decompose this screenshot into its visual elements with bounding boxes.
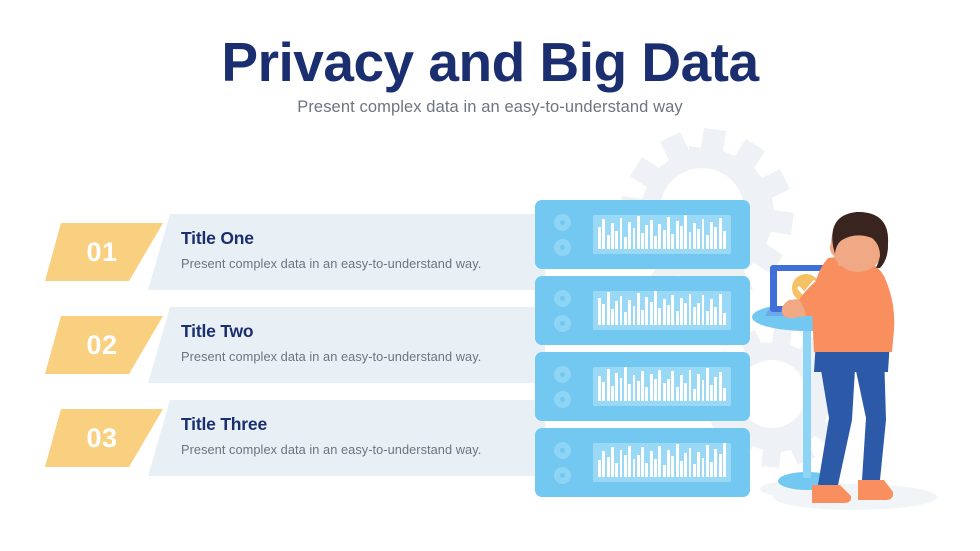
list-item-number: 02	[86, 330, 117, 361]
list-item-text: Title One Present complex data in an eas…	[181, 228, 521, 271]
server-led-icon	[554, 315, 571, 332]
activity-bar	[676, 387, 679, 401]
activity-bar	[598, 376, 601, 401]
activity-bar	[598, 298, 601, 325]
activity-bar	[633, 228, 636, 249]
activity-bar	[667, 305, 670, 325]
server-led-icon	[554, 290, 571, 307]
server-activity-panel	[593, 367, 731, 406]
activity-bar	[633, 459, 636, 477]
activity-bar	[680, 226, 683, 249]
activity-bar	[650, 374, 653, 401]
activity-bar	[607, 369, 610, 401]
activity-bar	[637, 455, 640, 477]
activity-bar	[693, 307, 696, 325]
activity-bar	[602, 219, 605, 249]
activity-bar	[620, 296, 623, 325]
activity-bar	[628, 300, 631, 325]
server-unit	[535, 428, 750, 497]
activity-bar	[719, 454, 722, 477]
activity-bar	[637, 293, 640, 325]
activity-bar	[663, 299, 666, 325]
activity-bar	[702, 458, 705, 477]
server-activity-panel	[593, 443, 731, 482]
activity-bar	[714, 307, 717, 325]
activity-bar	[645, 225, 648, 249]
activity-bar	[676, 311, 679, 325]
activity-bar	[689, 232, 692, 249]
activity-bar	[602, 304, 605, 325]
activity-bar	[624, 367, 627, 401]
list-item-title: Title Two	[181, 321, 521, 342]
activity-bar	[714, 449, 717, 477]
list-item[interactable]: 02 Title Two Present complex data in an …	[0, 307, 545, 383]
activity-bar	[714, 227, 717, 249]
list-item-number: 03	[86, 423, 117, 454]
activity-bar	[697, 374, 700, 401]
activity-bar	[611, 386, 614, 401]
activity-bar	[620, 218, 623, 249]
server-unit	[535, 276, 750, 345]
activity-bar	[611, 309, 614, 325]
activity-bar	[697, 452, 700, 477]
activity-bar	[650, 220, 653, 249]
activity-bar	[706, 311, 709, 325]
activity-bar	[719, 372, 722, 401]
activity-bar	[710, 385, 713, 401]
slide-canvas: Privacy and Big Data Present complex dat…	[0, 0, 980, 551]
activity-bar	[671, 234, 674, 249]
activity-bar	[706, 235, 709, 249]
activity-bar	[684, 383, 687, 401]
activity-bar	[702, 219, 705, 249]
server-led-icon	[554, 391, 571, 408]
activity-bar	[671, 371, 674, 401]
activity-bar	[680, 298, 683, 325]
activity-bar	[650, 302, 653, 325]
activity-bar	[645, 463, 648, 477]
activity-bar	[598, 227, 601, 249]
activity-bar	[641, 233, 644, 249]
feature-list: 01 Title One Present complex data in an …	[0, 0, 980, 551]
activity-bar	[624, 455, 627, 477]
activity-bar	[650, 451, 653, 477]
activity-bar	[637, 381, 640, 401]
activity-bar	[693, 389, 696, 401]
activity-bar	[667, 217, 670, 249]
list-item[interactable]: 01 Title One Present complex data in an …	[0, 214, 545, 290]
server-unit	[535, 200, 750, 269]
activity-bar	[658, 224, 661, 249]
list-item-title: Title Three	[181, 414, 521, 435]
list-item-title: Title One	[181, 228, 521, 249]
activity-bar	[723, 231, 726, 249]
activity-bar	[702, 295, 705, 325]
activity-bar	[684, 215, 687, 249]
activity-bar	[654, 379, 657, 401]
activity-bar	[602, 451, 605, 477]
activity-bar	[723, 313, 726, 325]
activity-bar	[723, 443, 726, 477]
activity-bar	[676, 221, 679, 249]
server-led-icon	[554, 239, 571, 256]
activity-bar	[676, 444, 679, 477]
activity-bar	[667, 379, 670, 401]
list-item[interactable]: 03 Title Three Present complex data in a…	[0, 400, 545, 476]
activity-bar	[706, 368, 709, 401]
activity-bar	[615, 231, 618, 249]
activity-bar	[624, 237, 627, 249]
activity-bar	[641, 447, 644, 477]
list-item-text: Title Two Present complex data in an eas…	[181, 321, 521, 364]
activity-bar	[615, 301, 618, 325]
activity-bar	[615, 373, 618, 401]
activity-bar	[697, 229, 700, 249]
list-item-description: Present complex data in an easy-to-under…	[181, 442, 521, 457]
server-led-icon	[554, 442, 571, 459]
activity-bar	[689, 370, 692, 401]
activity-bar	[719, 294, 722, 325]
activity-bar	[702, 380, 705, 401]
activity-bar	[671, 295, 674, 325]
activity-bar	[607, 457, 610, 477]
activity-bar	[680, 375, 683, 401]
activity-bar	[633, 375, 636, 401]
activity-bar	[697, 303, 700, 325]
activity-bar	[654, 291, 657, 325]
activity-bar	[658, 370, 661, 401]
activity-bar	[633, 306, 636, 325]
activity-bar	[723, 388, 726, 401]
server-rack-illustration	[535, 200, 750, 497]
list-item-number-badge: 03	[45, 409, 163, 467]
activity-bar	[667, 450, 670, 477]
activity-bar	[641, 310, 644, 325]
activity-bar	[628, 446, 631, 477]
list-item-description: Present complex data in an easy-to-under…	[181, 349, 521, 364]
activity-bar	[684, 303, 687, 325]
activity-bar	[710, 462, 713, 477]
activity-bar	[658, 446, 661, 477]
activity-bar	[658, 308, 661, 325]
activity-bar	[693, 464, 696, 477]
activity-bar	[611, 447, 614, 477]
activity-bar	[607, 235, 610, 249]
activity-bar	[624, 312, 627, 325]
activity-bar	[620, 378, 623, 401]
activity-bar	[710, 299, 713, 325]
server-led-icon	[554, 214, 571, 231]
activity-bar	[684, 453, 687, 477]
activity-bar	[663, 383, 666, 401]
activity-bar	[663, 465, 666, 477]
activity-bar	[602, 382, 605, 401]
activity-bar	[710, 222, 713, 249]
activity-bar	[693, 223, 696, 249]
activity-bar	[689, 448, 692, 477]
activity-bar	[654, 459, 657, 477]
activity-bar	[671, 456, 674, 477]
activity-bar	[689, 294, 692, 325]
activity-bar	[706, 445, 709, 477]
activity-bar	[615, 463, 618, 477]
activity-bar	[645, 297, 648, 325]
activity-bar	[607, 292, 610, 325]
activity-bar	[645, 387, 648, 401]
activity-bar	[680, 461, 683, 477]
list-item-number-badge: 01	[45, 223, 163, 281]
activity-bar	[663, 230, 666, 249]
activity-bar	[641, 371, 644, 401]
list-item-description: Present complex data in an easy-to-under…	[181, 256, 521, 271]
server-led-icon	[554, 467, 571, 484]
activity-bar	[611, 223, 614, 249]
server-unit	[535, 352, 750, 421]
server-led-icon	[554, 366, 571, 383]
activity-bar	[628, 222, 631, 249]
server-activity-panel	[593, 291, 731, 330]
activity-bar	[620, 450, 623, 477]
server-activity-panel	[593, 215, 731, 254]
activity-bar	[714, 377, 717, 401]
activity-bar	[719, 218, 722, 249]
activity-bar	[654, 236, 657, 249]
list-item-text: Title Three Present complex data in an e…	[181, 414, 521, 457]
activity-bar	[598, 460, 601, 477]
activity-bar	[637, 216, 640, 249]
list-item-number: 01	[86, 237, 117, 268]
activity-bar	[628, 384, 631, 401]
list-item-number-badge: 02	[45, 316, 163, 374]
